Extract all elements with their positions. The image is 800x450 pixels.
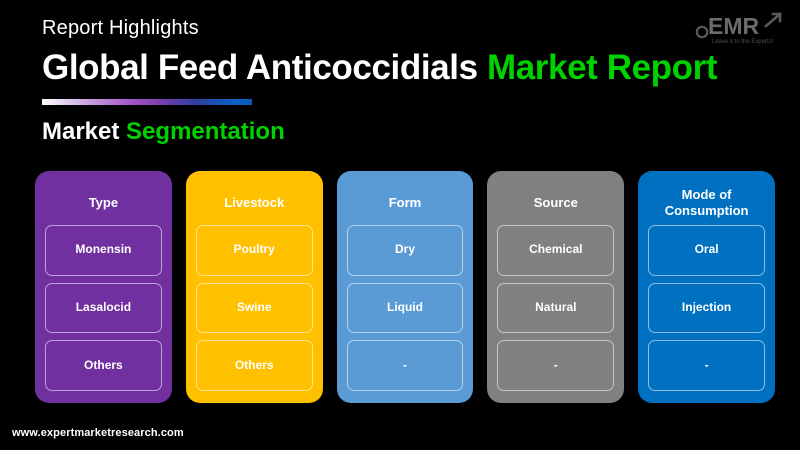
- page-title: Global Feed Anticoccidials Market Report: [42, 48, 717, 88]
- segment-card-form[interactable]: Form Dry Liquid -: [337, 171, 474, 403]
- segmentation-cards: Type Monensin Lasalocid Others Livestock…: [35, 171, 775, 403]
- segment-card-title: Source: [497, 181, 614, 225]
- segment-chip[interactable]: Swine: [196, 283, 313, 334]
- segment-card-mode-of-consumption[interactable]: Mode of Consumption Oral Injection -: [638, 171, 775, 403]
- segment-card-livestock[interactable]: Livestock Poultry Swine Others: [186, 171, 323, 403]
- segment-card-title: Type: [45, 181, 162, 225]
- segment-chip-list: Monensin Lasalocid Others: [45, 225, 162, 393]
- segment-chip[interactable]: Monensin: [45, 225, 162, 276]
- segment-chip[interactable]: Others: [45, 340, 162, 391]
- segment-chip-list: Poultry Swine Others: [196, 225, 313, 393]
- segment-chip[interactable]: Natural: [497, 283, 614, 334]
- section-title-accent: Segmentation: [126, 118, 285, 145]
- section-title-primary: Market: [42, 118, 119, 145]
- segment-chip[interactable]: Injection: [648, 283, 765, 334]
- title-space: [478, 48, 487, 87]
- emr-logo[interactable]: EMR Leave it to the Experts!: [694, 6, 786, 48]
- segment-card-title: Form: [347, 181, 464, 225]
- svg-text:Leave it to the Experts!: Leave it to the Experts!: [712, 39, 774, 45]
- segment-chip[interactable]: Liquid: [347, 283, 464, 334]
- section-title: Market Segmentation: [42, 118, 285, 147]
- segment-card-type[interactable]: Type Monensin Lasalocid Others: [35, 171, 172, 403]
- footer-website[interactable]: www.expertmarketresearch.com: [12, 427, 184, 439]
- segment-chip[interactable]: Dry: [347, 225, 464, 276]
- segment-chip-list: Chemical Natural -: [497, 225, 614, 393]
- segment-card-title: Mode of Consumption: [648, 181, 765, 225]
- eyebrow-label: Report Highlights: [42, 18, 199, 38]
- segment-chip-list: Oral Injection -: [648, 225, 765, 393]
- segment-chip[interactable]: Chemical: [497, 225, 614, 276]
- segment-chip[interactable]: Oral: [648, 225, 765, 276]
- segment-card-source[interactable]: Source Chemical Natural -: [487, 171, 624, 403]
- svg-text:EMR: EMR: [708, 13, 760, 39]
- page-title-accent: Market Report: [487, 48, 717, 87]
- gradient-divider: [42, 99, 252, 105]
- segment-chip-list: Dry Liquid -: [347, 225, 464, 393]
- segment-chip[interactable]: Others: [196, 340, 313, 391]
- segment-chip[interactable]: -: [347, 340, 464, 391]
- segment-chip[interactable]: -: [497, 340, 614, 391]
- slide-canvas: Report Highlights Global Feed Anticoccid…: [0, 0, 800, 450]
- segment-card-title: Livestock: [196, 181, 313, 225]
- segment-chip[interactable]: Poultry: [196, 225, 313, 276]
- page-title-primary: Global Feed Anticoccidials: [42, 48, 478, 87]
- segment-chip[interactable]: -: [648, 340, 765, 391]
- segment-chip[interactable]: Lasalocid: [45, 283, 162, 334]
